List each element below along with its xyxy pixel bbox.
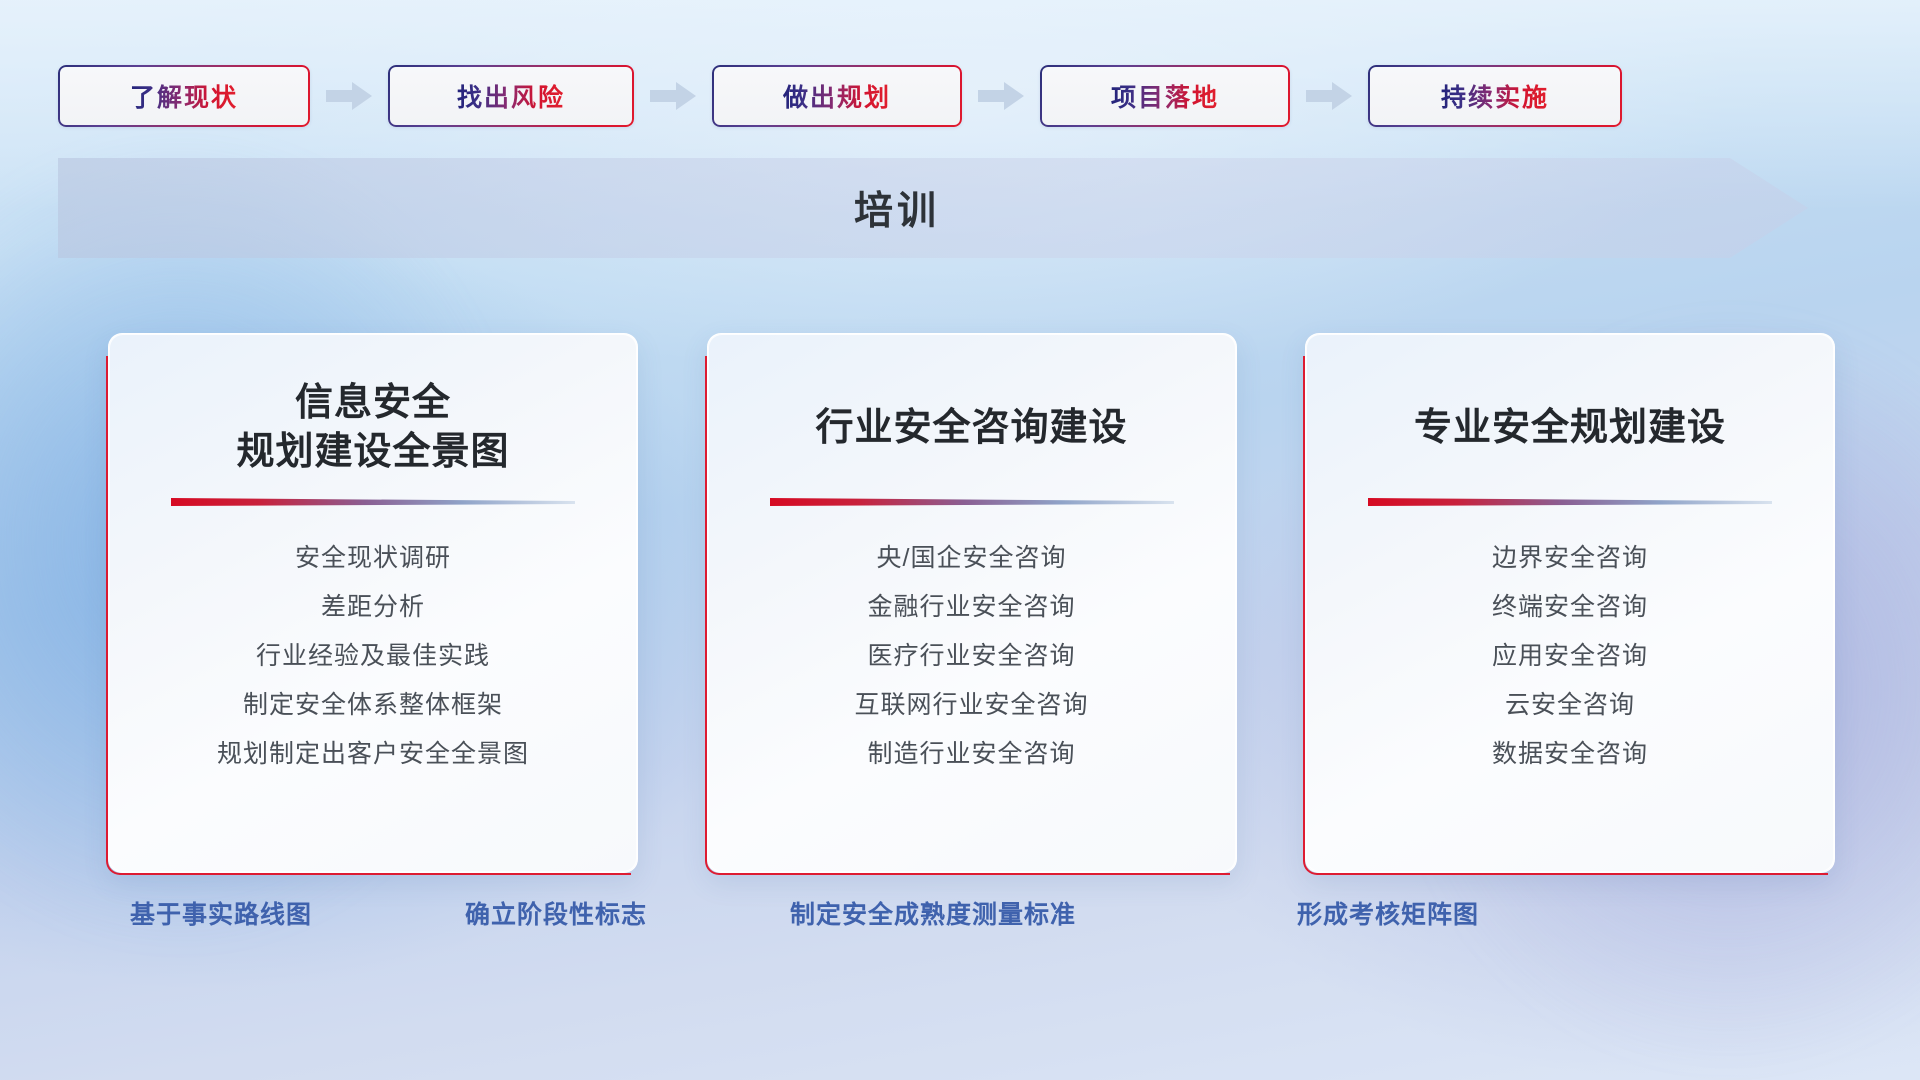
process-step-row: 了解现状 找出风险 做出规划 项目落地 持续实施 (58, 62, 1868, 130)
card-list-item: 制造行业安全咨询 (734, 730, 1210, 779)
card-title: 专业安全规划建设 (1414, 378, 1726, 478)
card-title-line: 专业安全规划建设 (1414, 404, 1726, 453)
card-item-list: 央/国企安全咨询 金融行业安全咨询 医疗行业安全咨询 互联网行业安全咨询 制造行… (734, 534, 1210, 779)
card-item-list: 边界安全咨询 终端安全咨询 应用安全咨询 云安全咨询 数据安全咨询 (1332, 534, 1808, 779)
card-title: 行业安全咨询建设 (815, 378, 1127, 478)
card-title-line: 规划建设全景图 (236, 428, 509, 477)
card-divider (770, 496, 1174, 508)
card-title: 信息安全 规划建设全景图 (236, 378, 509, 478)
step-chip-label: 找出风险 (457, 78, 565, 114)
step-chip-3[interactable]: 做出规划 (712, 65, 962, 127)
card-divider (171, 496, 575, 508)
card-divider (1368, 496, 1772, 508)
step-chip-4[interactable]: 项目落地 (1040, 65, 1290, 127)
outcome-caption: 形成考核矩阵图 (1297, 895, 1479, 931)
card-list-item: 安全现状调研 (135, 534, 611, 583)
card-title-line: 信息安全 (236, 379, 509, 428)
card-list-item: 行业经验及最佳实践 (135, 632, 611, 681)
step-arrow-icon-3 (978, 81, 1024, 111)
step-chip-5[interactable]: 持续实施 (1368, 65, 1622, 127)
step-arrow-icon-4 (1306, 81, 1352, 111)
card-item-list: 安全现状调研 差距分析 行业经验及最佳实践 制定安全体系整体框架 规划制定出客户… (135, 534, 611, 779)
outcome-caption-row: 基于事实路线图 确立阶段性标志 制定安全成熟度测量标准 形成考核矩阵图 (0, 895, 1920, 945)
card-list-item: 终端安全咨询 (1332, 583, 1808, 632)
card-title-line: 行业安全咨询建设 (815, 404, 1127, 453)
step-chip-label: 做出规划 (783, 78, 891, 114)
card-list-item: 制定安全体系整体框架 (135, 681, 611, 730)
service-card-row: 信息安全 规划建设全景图 (108, 333, 1835, 878)
step-chip-label: 持续实施 (1441, 78, 1549, 114)
training-banner-arrow: 培训 (58, 158, 1808, 258)
outcome-caption: 基于事实路线图 (130, 895, 312, 931)
outcome-caption: 确立阶段性标志 (465, 895, 647, 931)
card-list-item: 数据安全咨询 (1332, 730, 1808, 779)
card-body: 行业安全咨询建设 央/国 (708, 334, 1236, 872)
card-list-item: 差距分析 (135, 583, 611, 632)
service-card-2[interactable]: 行业安全咨询建设 央/国 (707, 333, 1237, 873)
card-list-item: 边界安全咨询 (1332, 534, 1808, 583)
step-chip-label: 项目落地 (1111, 78, 1219, 114)
service-card-1[interactable]: 信息安全 规划建设全景图 (108, 333, 638, 873)
card-list-item: 医疗行业安全咨询 (734, 632, 1210, 681)
step-chip-2[interactable]: 找出风险 (388, 65, 634, 127)
card-list-item: 云安全咨询 (1332, 681, 1808, 730)
card-body: 专业安全规划建设 边界安 (1306, 334, 1834, 872)
step-chip-1[interactable]: 了解现状 (58, 65, 310, 127)
outcome-caption: 制定安全成熟度测量标准 (790, 895, 1076, 931)
step-chip-label: 了解现状 (130, 78, 238, 114)
card-body: 信息安全 规划建设全景图 (109, 334, 637, 872)
service-card-3[interactable]: 专业安全规划建设 边界安 (1305, 333, 1835, 873)
step-arrow-icon-1 (326, 81, 372, 111)
step-arrow-icon-2 (650, 81, 696, 111)
training-banner-label: 培训 (58, 158, 1736, 258)
card-list-item: 央/国企安全咨询 (734, 534, 1210, 583)
card-list-item: 应用安全咨询 (1332, 632, 1808, 681)
card-list-item: 金融行业安全咨询 (734, 583, 1210, 632)
card-list-item: 互联网行业安全咨询 (734, 681, 1210, 730)
card-list-item: 规划制定出客户安全全景图 (135, 730, 611, 779)
